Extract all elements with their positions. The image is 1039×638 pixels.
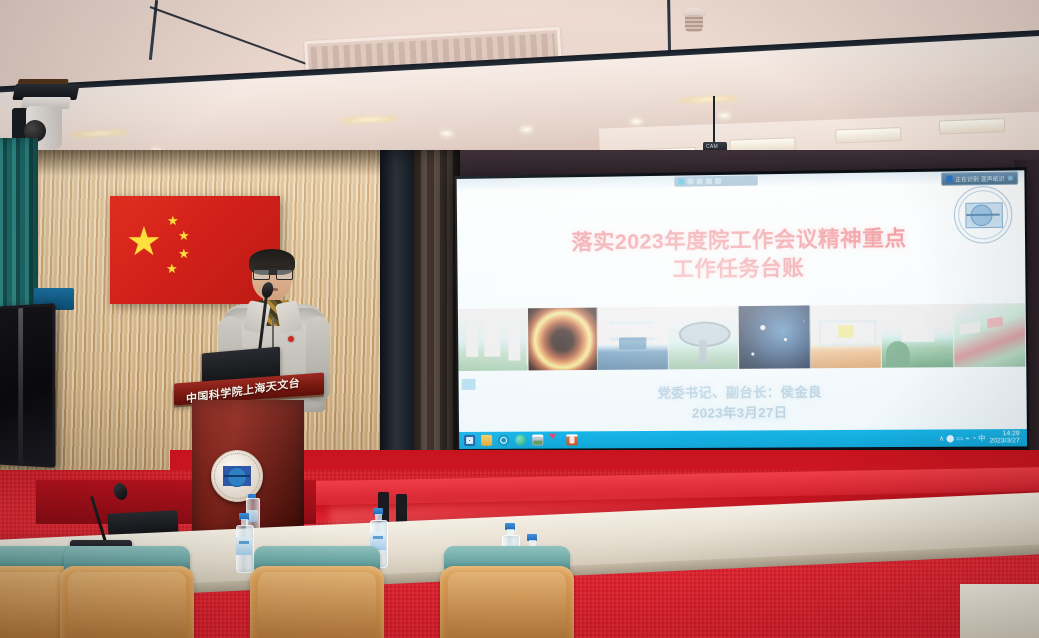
clock-date: 2023/3/27 xyxy=(990,438,1020,445)
microphone-icon xyxy=(946,175,952,182)
file-explorer-icon[interactable] xyxy=(481,435,492,446)
toolbar-eraser-icon[interactable] xyxy=(706,178,712,184)
rear-ceiling-light xyxy=(939,118,1005,135)
report-document-photo xyxy=(597,307,668,370)
slide-image-strip xyxy=(458,303,1026,371)
audience-chair[interactable] xyxy=(60,546,194,638)
side-table xyxy=(960,584,1039,638)
radio-telescope-photo xyxy=(668,306,739,369)
laboratory-photo xyxy=(810,305,882,369)
black-hole-photo xyxy=(527,308,598,371)
search-icon[interactable] xyxy=(498,435,509,446)
flag-star-small: ★ xyxy=(167,214,179,227)
speaker-lapel-badge xyxy=(288,336,294,342)
smoke-detector-icon xyxy=(680,8,708,38)
left-curtain xyxy=(0,138,38,328)
toolbar-more-icon[interactable] xyxy=(715,178,721,184)
presentation-slide: 正在识别 混声纸识 落实2023年度院工作会议精神重点 工作任务台账 xyxy=(457,170,1027,449)
wall-shadow xyxy=(0,150,410,176)
flag-star-small: ★ xyxy=(166,262,178,275)
powerpoint-icon[interactable] xyxy=(566,434,577,445)
camera-cable xyxy=(713,96,715,144)
audience-chair[interactable] xyxy=(440,546,574,638)
floating-toolbar[interactable] xyxy=(674,175,758,186)
flag-star-large: ★ xyxy=(126,222,162,262)
downlight-icon xyxy=(718,112,731,119)
recognition-label: 正在识别 混声纸识 xyxy=(955,174,1004,183)
downlight-icon xyxy=(520,126,533,133)
cityscape-photo xyxy=(458,308,528,371)
tray-icons[interactable]: ∧ ⬤ ▭ ⌁ ◔ 中 xyxy=(939,433,986,443)
slide-title-line1: 落实2023年度院工作会议精神重点 xyxy=(571,227,906,255)
satellite-space-photo xyxy=(739,305,811,368)
toolbar-square-icon[interactable] xyxy=(687,178,693,184)
taskbar-icons[interactable] xyxy=(459,434,578,446)
speaker-glasses xyxy=(252,269,292,278)
flag-star-small: ★ xyxy=(178,247,190,260)
slide-title: 落实2023年度院工作会议精神重点 工作任务台账 xyxy=(457,223,1025,286)
downlight-icon xyxy=(440,130,453,137)
taskbar-clock[interactable]: 14:29 2023/3/27 xyxy=(989,431,1022,445)
toolbar-pen-icon[interactable] xyxy=(697,178,703,184)
toolbar-chart-icon[interactable] xyxy=(678,179,684,185)
photos-icon[interactable] xyxy=(532,435,543,446)
campus-aerial-photo xyxy=(953,303,1026,367)
recognition-status-dot xyxy=(1008,176,1013,181)
wechat-icon[interactable] xyxy=(549,434,560,445)
slide-date: 2023年3月27日 xyxy=(459,401,1027,424)
flag-star-small: ★ xyxy=(178,229,190,242)
edge-browser-icon[interactable] xyxy=(515,435,526,446)
slide-title-line2: 工作任务台账 xyxy=(457,252,1025,287)
windows-taskbar[interactable]: ∧ ⬤ ▭ ⌁ ◔ 中 14:29 2023/3/27 xyxy=(459,429,1027,449)
chair-back xyxy=(60,566,194,638)
observatory-dome-photo xyxy=(881,304,954,368)
chair-back xyxy=(250,566,384,638)
chair-back xyxy=(440,566,574,638)
audience-chair[interactable] xyxy=(250,546,384,638)
conference-hall-photo: CAM ★ ★ ★ ★ ★ 正在识别 混声纸识 xyxy=(0,0,1039,638)
slide-presenter: 党委书记、副台长：侯金良 xyxy=(658,384,822,400)
speech-recognition-indicator[interactable]: 正在识别 混声纸识 xyxy=(941,171,1018,185)
downlight-icon xyxy=(630,118,643,125)
wall-mounted-tv[interactable] xyxy=(0,303,55,468)
windows-start-icon[interactable] xyxy=(464,435,475,446)
projection-screen: 正在识别 混声纸识 落实2023年度院工作会议精神重点 工作任务台账 xyxy=(455,167,1030,468)
rear-ceiling-light xyxy=(835,127,901,144)
slide-subtitle: 党委书记、副台长：侯金良 2023年3月27日 xyxy=(459,381,1027,424)
taskbar-tray[interactable]: ∧ ⬤ ▭ ⌁ ◔ 中 14:29 2023/3/27 xyxy=(939,431,1027,445)
